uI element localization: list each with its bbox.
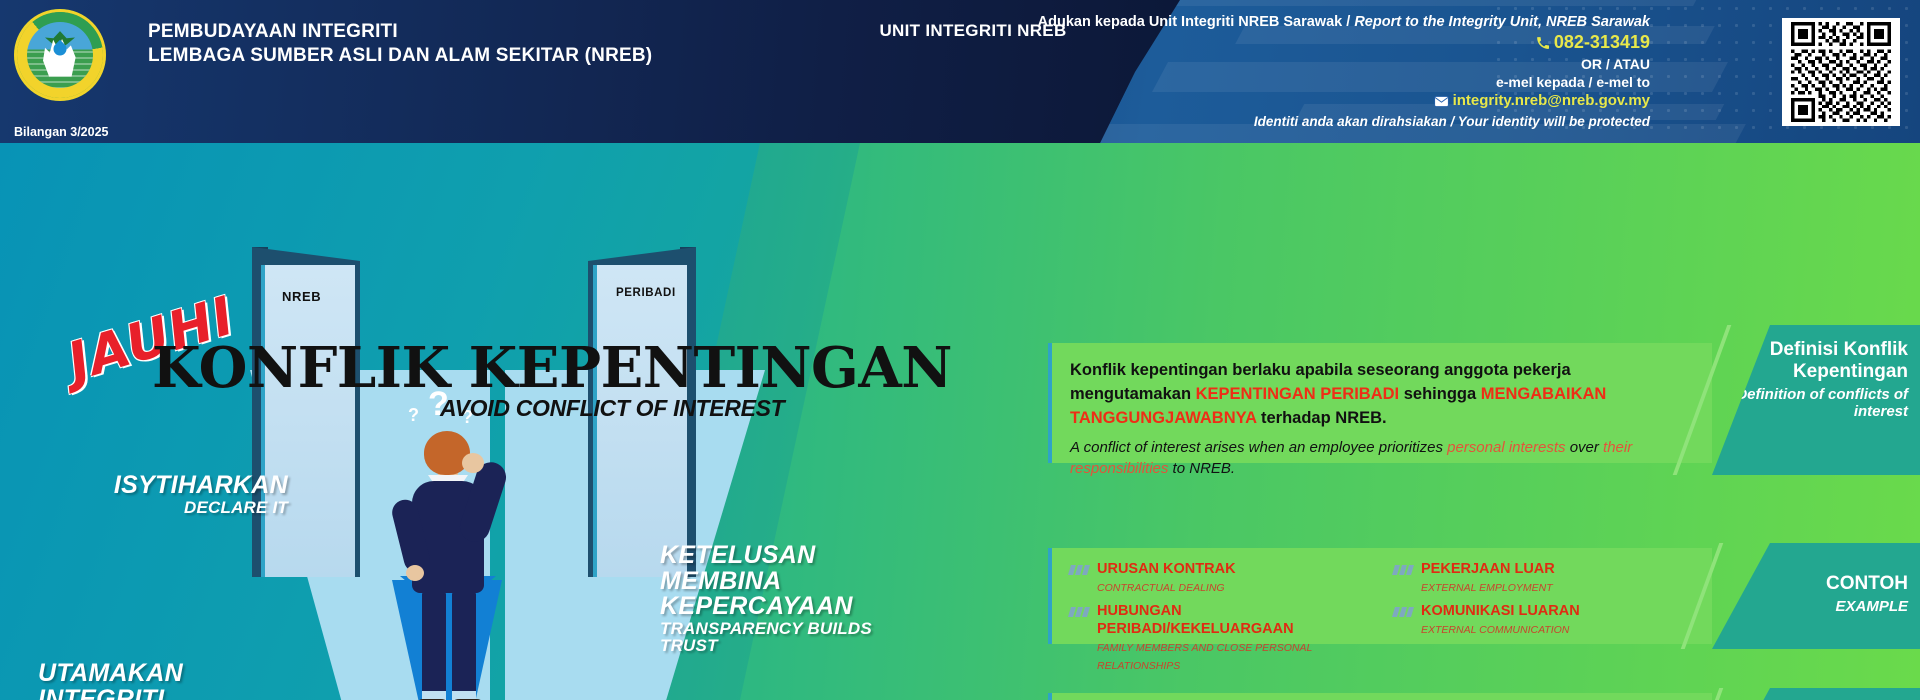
phone-icon (1536, 34, 1550, 55)
page-title: KONFLIK KEPENTINGAN (152, 335, 952, 401)
question-mark-small-left: ? (408, 405, 419, 426)
arrow-bars-icon (1068, 607, 1090, 617)
email-address[interactable]: integrity.nreb@nreb.gov.my (1453, 92, 1650, 109)
example-en: EXTERNAL COMMUNICATION (1421, 624, 1569, 636)
email-label: e-mel kepada / e-mel to (920, 74, 1650, 90)
phone-line[interactable]: 082-313419 (920, 32, 1650, 55)
example-item: KOMUNIKASI LUARAN EXTERNAL COMMUNICATION (1392, 602, 1696, 638)
contact-block: Adukan kepada Unit Integriti NREB Sarawa… (920, 14, 1650, 129)
definition-en-part3: to NREB. (1168, 460, 1235, 477)
page-subtitle: AVOID CONFLICT OF INTEREST (440, 395, 784, 422)
definition-en-highlight1: personal interests (1447, 439, 1565, 456)
door-right-label: PERIBADI (616, 287, 676, 299)
report-en: Report to the Integrity Unit, NREB Saraw… (1354, 14, 1650, 30)
privacy-note: Identiti anda akan dirahsiakan / Your id… (920, 114, 1650, 129)
example-en: FAMILY MEMBERS AND CLOSE PERSONAL RELATI… (1097, 642, 1312, 672)
example-ms: HUBUNGAN PERIBADI/KEKELUARGAAN (1097, 603, 1294, 637)
man-hand-right (462, 453, 484, 473)
org-line-2: LEMBAGA SUMBER ASLI DAN ALAM SEKITAR (NR… (148, 44, 652, 68)
door-left-panel (261, 265, 355, 577)
qr-code[interactable] (1782, 18, 1900, 126)
report-line: Adukan kepada Unit Integriti NREB Sarawa… (920, 14, 1650, 30)
examples-column-left: URUSAN KONTRAK CONTRACTUAL DEALING HUBUN… (1068, 560, 1372, 680)
poster-body: NREB PERIBADI ? ? ? (0, 143, 1920, 700)
slogan-declare: ISYTIHARKAN DECLARE IT (108, 473, 288, 516)
or-label: OR / ATAU (920, 56, 1650, 72)
example-ms: PEKERJAAN LUAR (1421, 561, 1555, 577)
slogan-declare-ms: ISYTIHARKAN (108, 473, 288, 499)
infographic-poster: PEMBUDAYAAN INTEGRITI LEMBAGA SUMBER ASL… (0, 0, 1920, 700)
slogan-declare-en: DECLARE IT (108, 499, 288, 517)
man-leg-right (452, 589, 476, 697)
examples-panel: URUSAN KONTRAK CONTRACTUAL DEALING HUBUN… (1048, 548, 1712, 644)
example-labels: HUBUNGAN PERIBADI/KEKELUARGAAN FAMILY ME… (1097, 602, 1372, 674)
issue-number: Bilangan 3/2025 (14, 125, 109, 139)
slogan-transparency-en: TRANSPARENCY BUILDS TRUST (660, 620, 920, 656)
man-leg-left (422, 589, 446, 697)
definition-ms-highlight1: KEPENTINGAN PERIBADI (1196, 385, 1400, 403)
report-ms: Adukan kepada Unit Integriti NREB Sarawa… (1038, 14, 1343, 30)
nreb-logo (14, 9, 106, 101)
example-ms: KOMUNIKASI LUARAN (1421, 603, 1580, 619)
example-en: CONTRACTUAL DEALING (1097, 582, 1225, 594)
slogan-integrity: UTAMAKAN INTEGRITI INTEGRITY FIRST (38, 661, 278, 700)
example-ms: URUSAN KONTRAK (1097, 561, 1236, 577)
definition-en-part1: A conflict of interest arises when an em… (1070, 439, 1447, 456)
slogan-integrity-ms: UTAMAKAN INTEGRITI (38, 661, 278, 700)
org-line-1: PEMBUDAYAAN INTEGRITI (148, 20, 652, 44)
door-nreb: NREB (252, 247, 360, 577)
examples-column-right: PEKERJAAN LUAR EXTERNAL EMPLOYMENT KOMUN… (1392, 560, 1696, 680)
action-text-ms: Laporkan sebarang kemungkinan konflik ke… (1052, 693, 1712, 700)
example-item: URUSAN KONTRAK CONTRACTUAL DEALING (1068, 560, 1372, 596)
example-item: HUBUNGAN PERIBADI/KEKELUARGAAN FAMILY ME… (1068, 602, 1372, 674)
qr-code-image (1786, 22, 1896, 122)
example-labels: PEKERJAAN LUAR EXTERNAL EMPLOYMENT (1421, 560, 1555, 596)
arrow-bars-icon (1068, 565, 1090, 575)
report-separator: / (1346, 14, 1350, 30)
examples-grid: URUSAN KONTRAK CONTRACTUAL DEALING HUBUN… (1052, 548, 1712, 680)
page-header: PEMBUDAYAAN INTEGRITI LEMBAGA SUMBER ASL… (0, 0, 1920, 143)
example-labels: KOMUNIKASI LUARAN EXTERNAL COMMUNICATION (1421, 602, 1580, 638)
organization-title: PEMBUDAYAAN INTEGRITI LEMBAGA SUMBER ASL… (148, 20, 652, 69)
example-en: EXTERNAL EMPLOYMENT (1421, 582, 1553, 594)
door-left-label: NREB (282, 289, 321, 304)
phone-number[interactable]: 082-313419 (1554, 32, 1650, 52)
slogan-transparency: KETELUSAN MEMBINA KEPERCAYAAN TRANSPAREN… (660, 543, 920, 655)
action-panel: Laporkan sebarang kemungkinan konflik ke… (1048, 693, 1712, 700)
email-line[interactable]: integrity.nreb@nreb.gov.my (920, 92, 1650, 111)
definition-ms-part2: sehingga (1399, 385, 1481, 403)
definition-ms-part3: terhadap NREB. (1256, 409, 1386, 427)
confused-man-figure: ? ? ? (390, 413, 510, 700)
definition-text-ms: Konflik kepentingan berlaku apabila sese… (1052, 343, 1712, 431)
example-labels: URUSAN KONTRAK CONTRACTUAL DEALING (1097, 560, 1236, 596)
examples-chevron-sub: EXAMPLE (1712, 598, 1908, 615)
example-item: PEKERJAAN LUAR EXTERNAL EMPLOYMENT (1392, 560, 1696, 596)
definition-text-en: A conflict of interest arises when an em… (1052, 431, 1712, 479)
man-hand-left (406, 565, 424, 581)
envelope-icon (1434, 94, 1449, 111)
definition-en-part2: over (1566, 439, 1604, 456)
arrow-bars-icon (1392, 565, 1414, 575)
arrow-bars-icon (1392, 607, 1414, 617)
slogan-transparency-ms: KETELUSAN MEMBINA KEPERCAYAAN (660, 543, 920, 620)
definition-panel: Konflik kepentingan berlaku apabila sese… (1048, 343, 1712, 463)
